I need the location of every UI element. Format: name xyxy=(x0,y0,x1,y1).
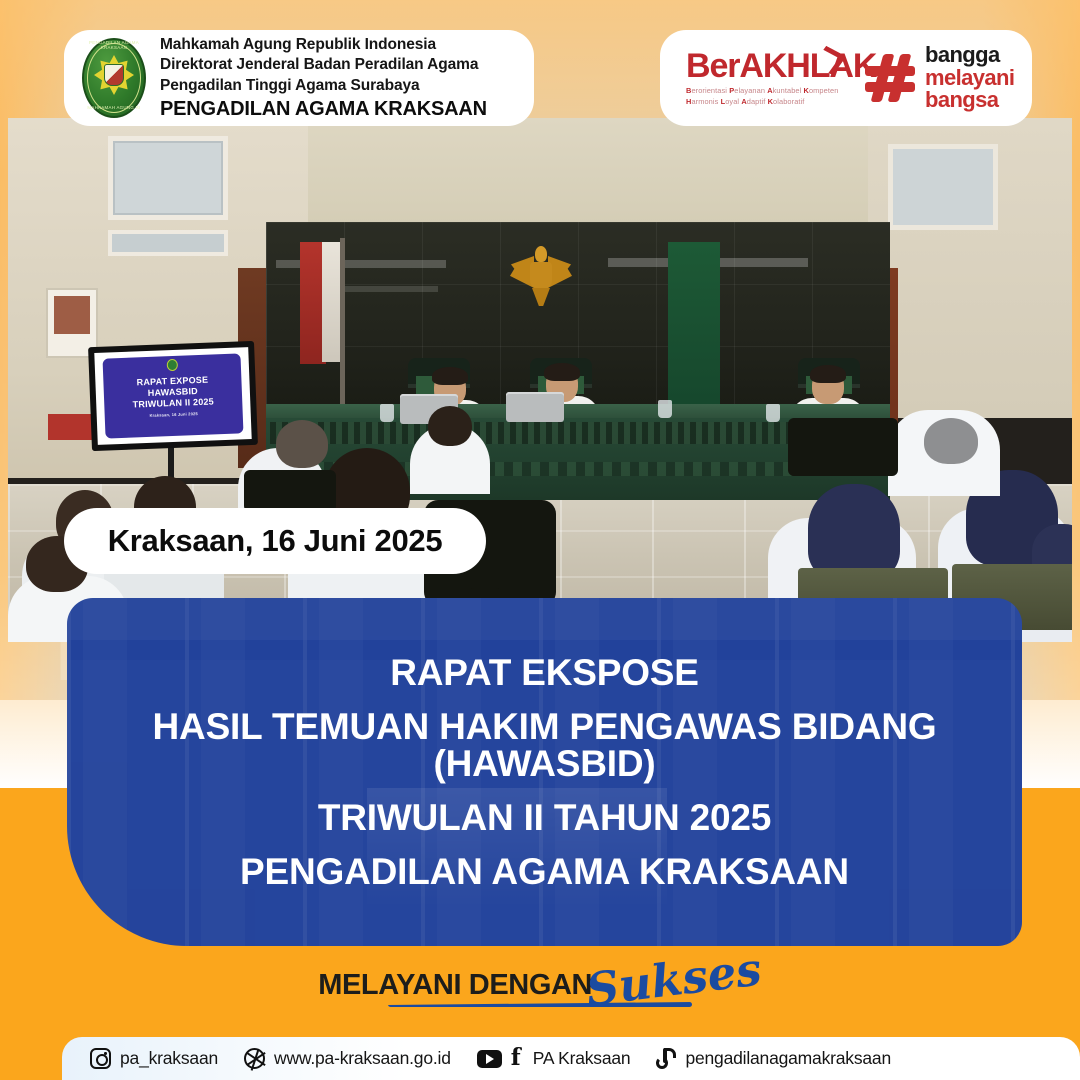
bangga-line-2: melayani xyxy=(925,67,1014,90)
slogan-underline xyxy=(388,1002,692,1007)
event-title-line-1: RAPAT EKSPOSE xyxy=(390,654,699,691)
photo-flag-white xyxy=(322,242,342,362)
photo-laptop xyxy=(506,392,564,422)
event-title-line-4: PENGADILAN AGAMA KRAKSAAN xyxy=(240,853,849,890)
bangga-melayani-bangsa-logo: bangga melayani bangsa xyxy=(856,44,1014,113)
berakhlak-logo: BerAKHLAK Berorientasi Pelayanan Akuntab… xyxy=(660,49,856,107)
website-url: www.pa-kraksaan.go.id xyxy=(274,1048,451,1069)
slogan-part-1: MELAYANI DENGAN xyxy=(318,969,592,1002)
hashtag-icon xyxy=(864,52,916,104)
footer-item-website[interactable]: www.pa-kraksaan.go.id xyxy=(244,1048,451,1069)
institution-line-2: Direktorat Jenderal Badan Peradilan Agam… xyxy=(160,55,487,74)
garuda-emblem-icon xyxy=(510,244,572,308)
photo-water-glass xyxy=(766,404,780,422)
slide-line-4: Kraksaan, 16 Juni 2025 xyxy=(149,411,198,418)
footer-item-youtube-facebook[interactable]: f PA Kraksaan xyxy=(477,1048,631,1069)
photo-water-glass xyxy=(658,400,672,418)
date-badge: Kraksaan, 16 Juni 2025 xyxy=(64,508,486,574)
slogan-block: MELAYANI DENGAN Sukses xyxy=(0,958,1080,1012)
chevron-swoosh-icon xyxy=(818,49,840,75)
photo-window-right xyxy=(888,144,998,230)
pengadilan-agama-seal-icon: PENGADILAN AGAMA KRAKSAAN MAHKAMAH AGUNG… xyxy=(82,38,146,118)
institution-line-3: Pengadilan Tinggi Agama Surabaya xyxy=(160,76,487,95)
youtube-facebook-handle: PA Kraksaan xyxy=(533,1048,631,1069)
photo-noticeboard-poster xyxy=(54,296,90,334)
facebook-icon: f xyxy=(511,1048,524,1069)
event-title-line-2: HASIL TEMUAN HAKIM PENGAWAS BIDANG (HAWA… xyxy=(67,708,1022,782)
tiktok-icon xyxy=(656,1048,676,1070)
photo-window-left-lower xyxy=(108,230,228,256)
projector-slide: RAPAT EXPOSE HAWASBID TRIWULAN II 2025 K… xyxy=(103,353,244,438)
seal-text-top: PENGADILAN AGAMA KRAKSAAN xyxy=(82,40,146,50)
berakhlak-tagline-line-2: Harmonis Loyal Adaptif Kolaboratif xyxy=(686,97,856,108)
instagram-handle: pa_kraksaan xyxy=(120,1048,218,1069)
slide-line-3: TRIWULAN II 2025 xyxy=(132,396,214,409)
bangga-line-3: bangsa xyxy=(925,89,1014,112)
photo-chair xyxy=(244,470,336,512)
photo-wall-glare-c xyxy=(338,286,438,292)
berakhlak-tagline-line-1: Berorientasi Pelayanan Akuntabel Kompete… xyxy=(686,86,856,97)
event-title-line-3: TRIWULAN II TAHUN 2025 xyxy=(318,799,771,836)
institution-line-4: PENGADILAN AGAMA KRAKSAAN xyxy=(160,97,487,121)
bangga-wordmark: bangga melayani bangsa xyxy=(925,44,1014,113)
youtube-icon xyxy=(477,1050,502,1068)
berakhlak-header-card: BerAKHLAK Berorientasi Pelayanan Akuntab… xyxy=(660,30,1032,126)
berakhlak-tagline: Berorientasi Pelayanan Akuntabel Kompete… xyxy=(686,86,856,107)
seal-text-bottom: MAHKAMAH AGUNG RI xyxy=(82,105,146,110)
globe-icon xyxy=(244,1048,265,1069)
footer-contact-bar: pa_kraksaan www.pa-kraksaan.go.id f PA K… xyxy=(62,1037,1080,1080)
poster-canvas: RAPAT EXPOSE HAWASBID TRIWULAN II 2025 K… xyxy=(0,0,1080,1080)
footer-item-tiktok[interactable]: pengadilanagamakraksaan xyxy=(656,1048,891,1070)
instagram-icon xyxy=(90,1048,111,1069)
institution-line-1: Mahkamah Agung Republik Indonesia xyxy=(160,35,487,54)
photo-chair xyxy=(788,418,898,476)
slide-line-2: HAWASBID xyxy=(148,386,198,398)
date-badge-text: Kraksaan, 16 Juni 2025 xyxy=(108,523,443,559)
photo-window-left xyxy=(108,136,228,220)
slide-seal-icon xyxy=(167,359,178,371)
photo-water-glass xyxy=(380,404,394,422)
institution-header-card: PENGADILAN AGAMA KRAKSAAN MAHKAMAH AGUNG… xyxy=(64,30,534,126)
institution-name-block: Mahkamah Agung Republik Indonesia Direkt… xyxy=(160,35,487,120)
footer-item-instagram[interactable]: pa_kraksaan xyxy=(90,1048,218,1069)
bangga-line-1: bangga xyxy=(925,44,1014,67)
tiktok-handle: pengadilanagamakraksaan xyxy=(685,1048,891,1069)
event-title-panel: RAPAT EKSPOSE HASIL TEMUAN HAKIM PENGAWA… xyxy=(67,598,1022,946)
